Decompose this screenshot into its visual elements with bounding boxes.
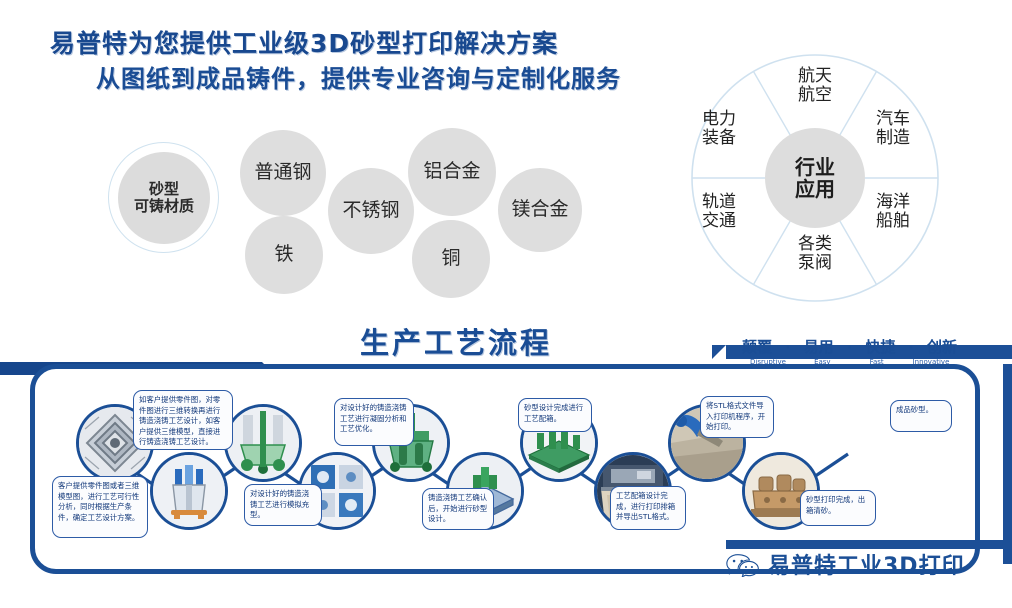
process-node-2: [150, 452, 228, 530]
wheel-hub: 行业 应用: [765, 128, 865, 228]
process-node-3: [224, 404, 302, 482]
mold-filling-simulation-icon: [227, 407, 299, 479]
process-caption-6: 砂型设计完成进行工艺配箱。: [518, 398, 592, 432]
material-bubble-3: 不锈钢: [328, 168, 414, 254]
process-caption-10: 成品砂型。: [890, 400, 952, 432]
slogan-cn-2: 易用: [804, 336, 834, 357]
slogan-cn-1: 颠覆: [742, 336, 772, 357]
segment-aerospace-line-1: 航天: [780, 67, 850, 86]
segment-marine-line-2: 船舶: [858, 212, 928, 231]
slogan-sep-1: ·: [784, 341, 791, 356]
slogan-block: 颠覆 · 易用 · 快捷 · 创新 Disruptive Easy Fast I…: [742, 336, 957, 366]
process-caption-4: 对设计好的铸造浇铸工艺进行凝固分析和工艺优化。: [334, 398, 414, 446]
headline-line-2: 从图纸到成品铸件，提供专业咨询与定制化服务: [50, 65, 670, 94]
segment-pumps-line-1: 各类: [780, 235, 850, 254]
material-bubble-4: 铝合金: [408, 128, 496, 216]
segment-aerospace-line-2: 航空: [780, 86, 850, 105]
slogan-chinese: 颠覆 · 易用 · 快捷 · 创新: [742, 336, 957, 357]
footer-brand: 易普特工业3D打印: [726, 548, 965, 580]
materials-center-line-2: 可铸材质: [134, 198, 194, 215]
material-bubble-6: 镁合金: [498, 168, 582, 252]
material-bubble-2: 铁: [245, 216, 323, 294]
wheel-segment-aerospace: 航天 航空: [780, 67, 850, 105]
casting-process-design-icon: [153, 455, 225, 527]
segment-rail-line-1: 轨道: [684, 193, 754, 212]
segment-automotive-line-2: 制造: [858, 129, 928, 148]
industry-application-wheel: 行业 应用 航天 航空 汽车 制造 海洋 船舶 各类 泵阀 轨道 交通 电力 装…: [690, 53, 940, 303]
materials-bubble-cluster: 砂型 可铸材质 普通钢 铁 不锈钢 铝合金 铜 镁合金: [100, 120, 620, 300]
panel-right-edge: [1003, 364, 1012, 564]
process-caption-7: 工艺配箱设计完成，进行打印排箱并导出STL格式。: [610, 486, 686, 530]
wechat-icon: [726, 551, 760, 577]
material-bubble-5: 铜: [412, 220, 490, 298]
process-caption-1: 客户提供零件图或者三维模型图，进行工艺可行性分析，同时根据生产条件，确定工艺设计…: [52, 476, 148, 538]
wheel-segment-rail-transit: 轨道 交通: [684, 193, 754, 231]
segment-power-line-1: 电力: [684, 110, 754, 129]
process-caption-8: 将STL格式文件导入打印机程序，开始打印。: [700, 396, 774, 438]
wheel-segment-power-equipment: 电力 装备: [684, 110, 754, 148]
footer-brand-text: 易普特工业3D打印: [768, 548, 965, 580]
wheel-segment-pumps-valves: 各类 泵阀: [780, 235, 850, 273]
headline-line-1: 易普特为您提供工业级3D砂型打印解决方案: [50, 30, 670, 59]
wheel-hub-line-2: 应用: [795, 178, 835, 200]
segment-rail-line-2: 交通: [684, 212, 754, 231]
section-title: 生产工艺流程: [360, 320, 552, 362]
segment-marine-line-1: 海洋: [858, 193, 928, 212]
segment-power-line-2: 装备: [684, 129, 754, 148]
infographic-canvas: 易普特为您提供工业级3D砂型打印解决方案 从图纸到成品铸件，提供专业咨询与定制化…: [0, 0, 1012, 608]
process-caption-9: 砂型打印完成，出箱清砂。: [800, 490, 876, 526]
slogan-sep-3: ·: [908, 341, 915, 356]
segment-pumps-line-2: 泵阀: [780, 254, 850, 273]
headline-block: 易普特为您提供工业级3D砂型打印解决方案 从图纸到成品铸件，提供专业咨询与定制化…: [50, 30, 670, 94]
materials-center-bubble: 砂型 可铸材质: [118, 152, 210, 244]
slogan-cn-4: 创新: [927, 336, 957, 357]
process-caption-5: 铸造浇铸工艺确认后，开始进行砂型设计。: [422, 488, 494, 530]
wheel-segment-marine: 海洋 船舶: [858, 193, 928, 231]
process-caption-2: 如客户提供零件图，对零件图进行三维转换再进行铸造浇铸工艺设计，如客户提供三维模型…: [133, 390, 233, 450]
material-bubble-1: 普通钢: [240, 130, 326, 216]
slogan-sep-2: ·: [846, 341, 853, 356]
wheel-hub-line-1: 行业: [795, 156, 835, 178]
segment-automotive-line-1: 汽车: [858, 110, 928, 129]
wheel-segment-automotive: 汽车 制造: [858, 110, 928, 148]
materials-center-line-1: 砂型: [134, 181, 194, 198]
process-caption-3: 对设计好的铸造浇铸工艺进行模拟充型。: [244, 484, 322, 526]
slogan-cn-3: 快捷: [865, 336, 895, 357]
